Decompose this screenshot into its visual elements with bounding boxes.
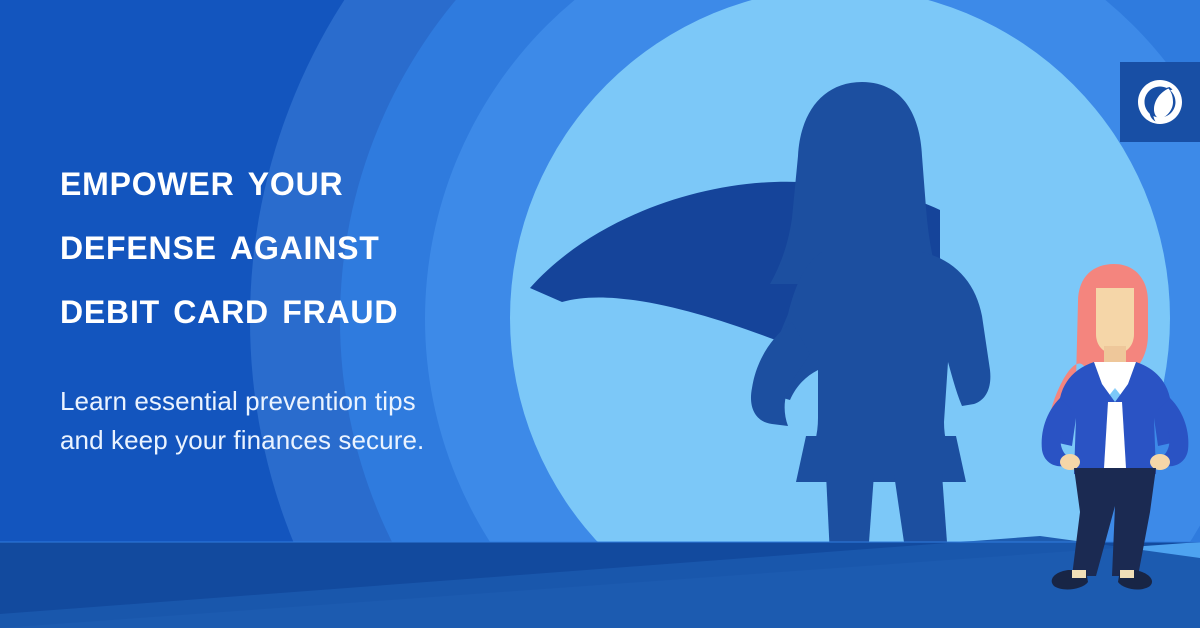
headline-line-3: Debit Card Fraud [60,276,580,340]
headline-line-2: Defense Against [60,212,580,276]
copy-block: Empower Your Defense Against Debit Card … [60,148,580,461]
circular-swoosh-logo-icon [1136,78,1184,126]
subtitle-line-1: Learn essential prevention tips [60,382,580,422]
subtitle-line-2: and keep your finances secure. [60,421,580,461]
logo-badge[interactable] [1120,62,1200,142]
page-title: Empower Your Defense Against Debit Card … [60,148,580,340]
promo-banner: Empower Your Defense Against Debit Card … [0,0,1200,628]
subtitle: Learn essential prevention tips and keep… [60,382,580,461]
headline-line-1: Empower Your [60,148,580,212]
businesswoman-illustration [1016,262,1200,592]
